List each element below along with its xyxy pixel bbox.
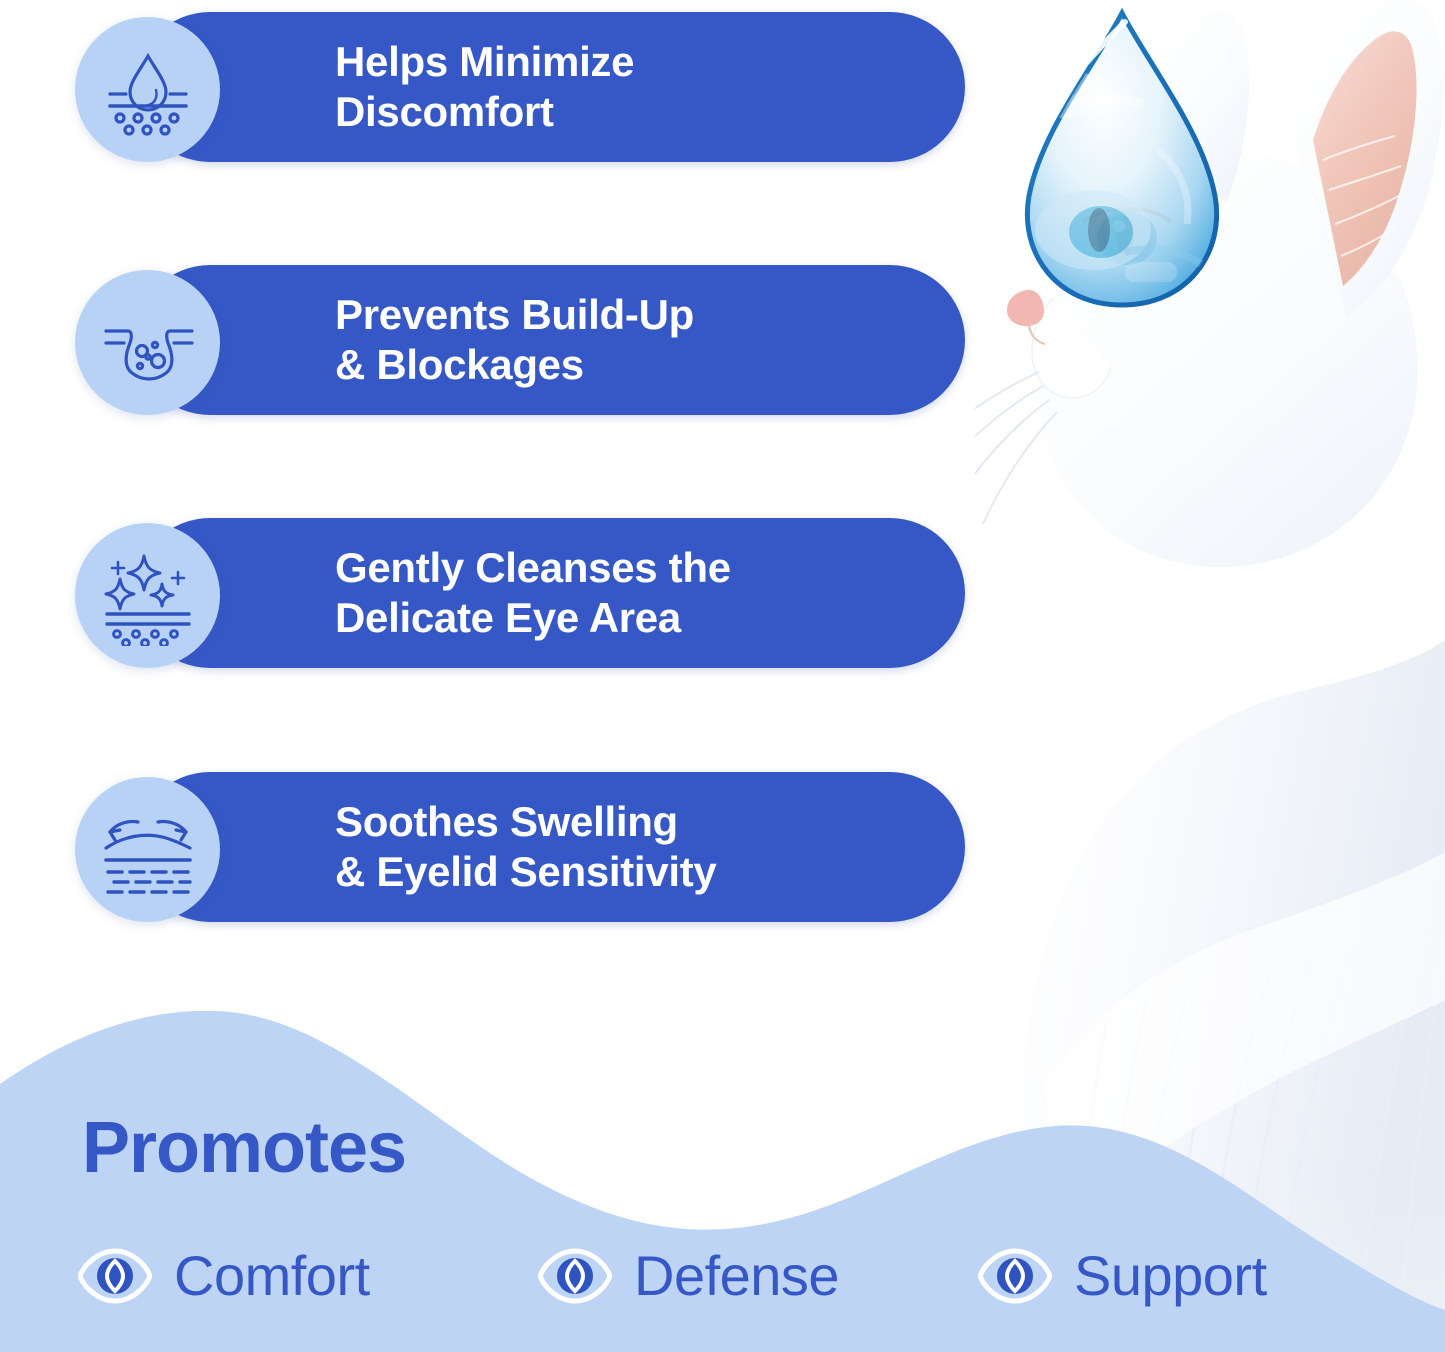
cat-ear-left	[1139, 10, 1249, 202]
cat-ear-fur	[1323, 136, 1401, 256]
cat-ear-right-inner	[1313, 31, 1417, 286]
promote-label-support: Support	[1074, 1248, 1267, 1304]
feature-row-1: Helps Minimize Discomfort	[75, 12, 965, 162]
cat-head	[1039, 150, 1418, 567]
feature-row-3: Gently Cleanses the Delicate Eye Area	[75, 518, 965, 668]
cat-muzzle	[1032, 298, 1111, 398]
feature-pill-1[interactable]: Helps Minimize Discomfort	[135, 12, 965, 162]
promotes-list: Comfort Defense Support	[78, 1238, 1368, 1314]
cat-nose-line	[1029, 326, 1045, 344]
droplet-over-skin-layers-icon	[75, 17, 220, 162]
feature-row-4: Soothes Swelling & Eyelid Sensitivity	[75, 772, 965, 922]
feature-label-3: Gently Cleanses the Delicate Eye Area	[135, 543, 731, 644]
promote-item-comfort: Comfort	[78, 1247, 538, 1305]
feature-pill-3[interactable]: Gently Cleanses the Delicate Eye Area	[135, 518, 965, 668]
clogged-pore-icon	[75, 270, 220, 415]
cat-ear-right-outer	[1291, 0, 1443, 316]
sparkles-over-skin-icon	[75, 523, 220, 668]
cat-whiskers	[975, 372, 1057, 524]
feature-label-4: Soothes Swelling & Eyelid Sensitivity	[135, 797, 716, 898]
promote-label-comfort: Comfort	[174, 1248, 370, 1304]
eye-icon	[538, 1247, 612, 1305]
feature-row-2: Prevents Build-Up & Blockages	[75, 265, 965, 415]
product-infographic: Helps Minimize Discomfort Prevents Build…	[0, 0, 1445, 1352]
feature-pill-4[interactable]: Soothes Swelling & Eyelid Sensitivity	[135, 772, 965, 922]
promote-item-support: Support	[978, 1247, 1368, 1305]
cat-eye	[1083, 208, 1171, 268]
cat-nose	[1007, 290, 1044, 326]
promote-label-defense: Defense	[634, 1248, 839, 1304]
soothing-arrows-skin-icon	[75, 777, 220, 922]
eye-icon	[78, 1247, 152, 1305]
promotes-heading: Promotes	[82, 1112, 406, 1184]
eye-icon	[978, 1247, 1052, 1305]
promote-item-defense: Defense	[538, 1247, 978, 1305]
feature-pill-2[interactable]: Prevents Build-Up & Blockages	[135, 265, 965, 415]
water-droplet-overlay	[1027, 13, 1216, 305]
